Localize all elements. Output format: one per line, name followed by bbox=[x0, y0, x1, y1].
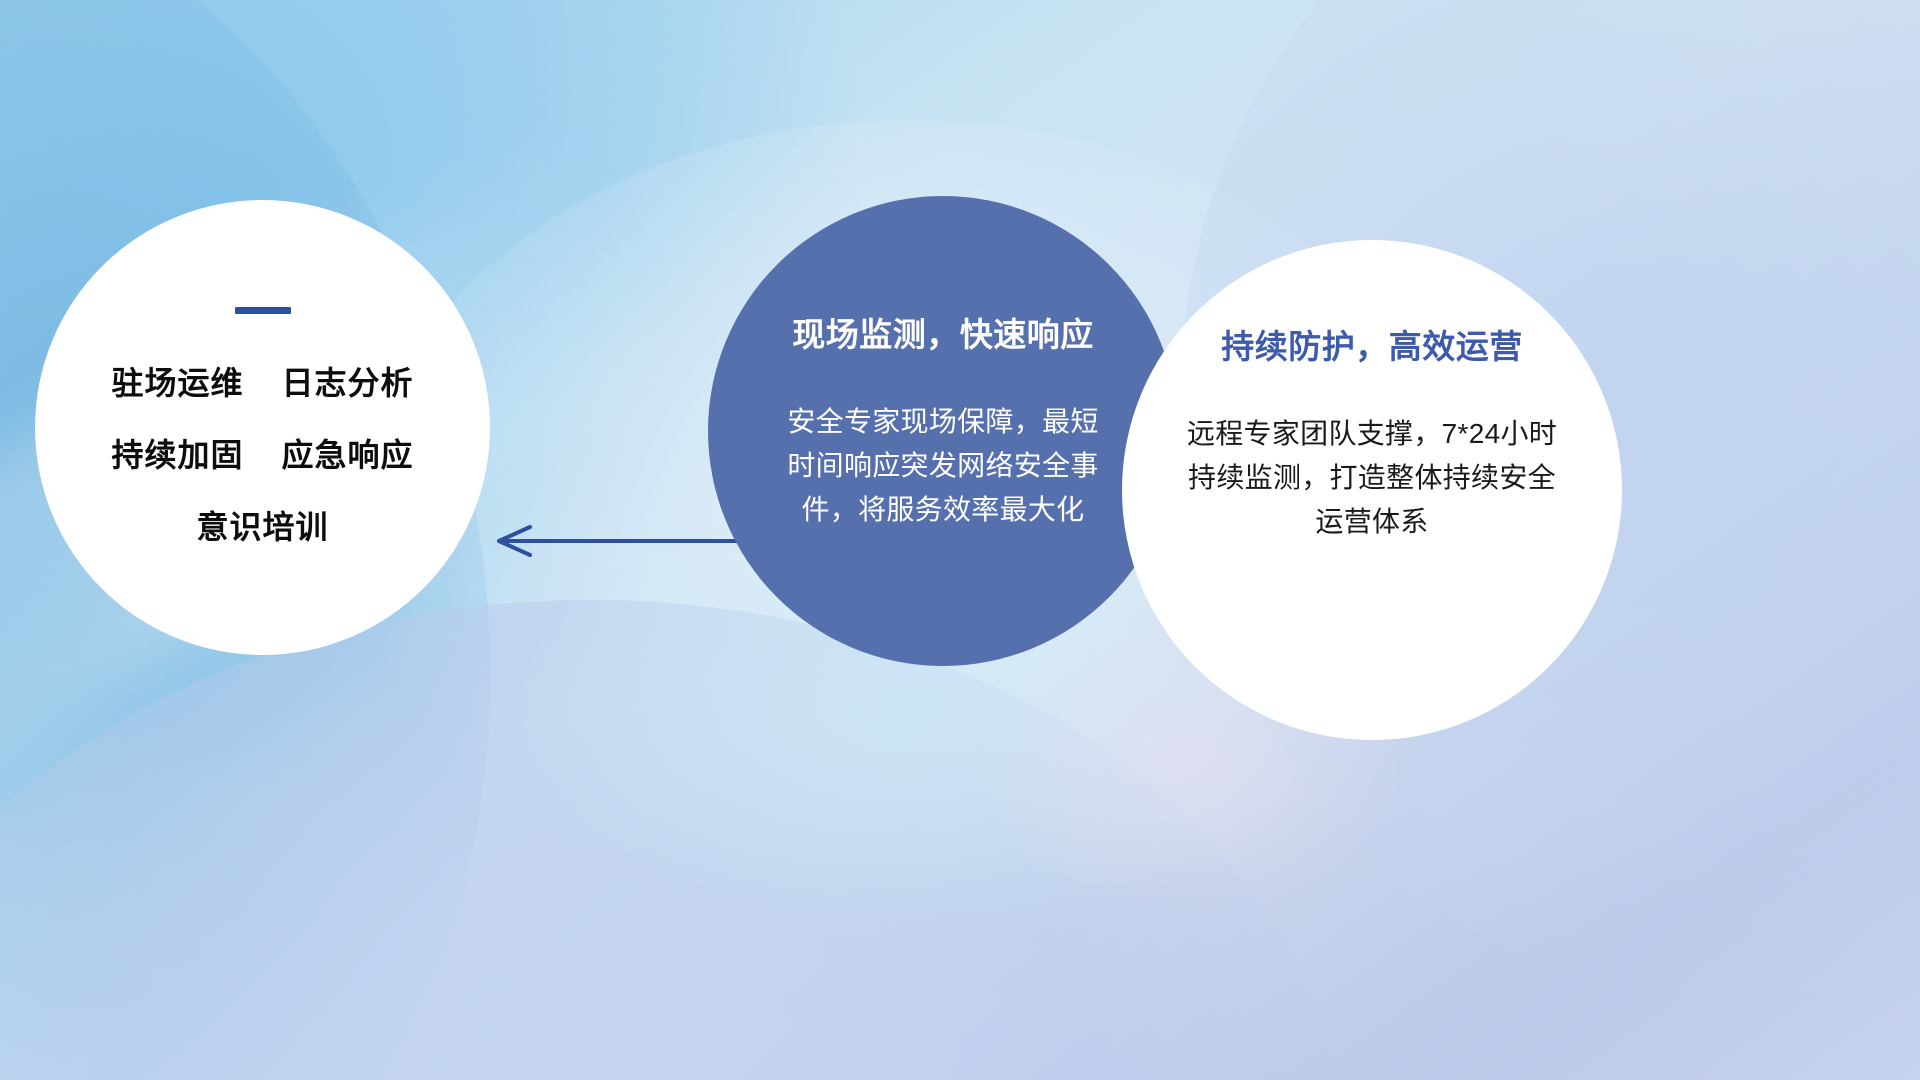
onsite-monitoring-circle[interactable]: 现场监测，快速响应 安全专家现场保障，最短时间响应突发网络安全事件，将服务效率最… bbox=[708, 196, 1178, 666]
capability-tags-circle[interactable]: 驻场运维 日志分析 持续加固 应急响应 意识培训 bbox=[35, 200, 490, 655]
capability-tag: 日志分析 bbox=[282, 358, 414, 404]
capability-tag-row: 意识培训 bbox=[196, 502, 328, 548]
capability-tag: 持续加固 bbox=[111, 430, 243, 476]
capability-tag: 应急响应 bbox=[282, 430, 414, 476]
continuous-protection-content: 持续防护，高效运营 远程专家团队支撑，7*24小时持续监测，打造整体持续安全运营… bbox=[1122, 240, 1622, 740]
continuous-protection-body: 远程专家团队支撑，7*24小时持续监测，打造整体持续安全运营体系 bbox=[1182, 412, 1562, 545]
onsite-monitoring-body: 安全专家现场保障，最短时间响应突发网络安全事件，将服务效率最大化 bbox=[778, 400, 1108, 533]
horizontal-dash-divider-icon bbox=[235, 307, 291, 314]
capability-tag: 驻场运维 bbox=[111, 358, 243, 404]
capability-tag-rows: 驻场运维 日志分析 持续加固 应急响应 意识培训 bbox=[111, 358, 413, 548]
onsite-monitoring-title: 现场监测，快速响应 bbox=[792, 308, 1094, 356]
onsite-monitoring-content: 现场监测，快速响应 安全专家现场保障，最短时间响应突发网络安全事件，将服务效率最… bbox=[708, 196, 1178, 666]
continuous-protection-circle[interactable]: 持续防护，高效运营 远程专家团队支撑，7*24小时持续监测，打造整体持续安全运营… bbox=[1122, 240, 1622, 740]
continuous-protection-title: 持续防护，高效运营 bbox=[1221, 320, 1523, 368]
capability-tag-row: 持续加固 应急响应 bbox=[111, 430, 413, 476]
capability-tag-row: 驻场运维 日志分析 bbox=[111, 358, 413, 404]
slide-canvas: 驻场运维 日志分析 持续加固 应急响应 意识培训 现场监测，快速响应 安全专家现… bbox=[0, 0, 1920, 1080]
capability-tag: 意识培训 bbox=[196, 502, 328, 548]
